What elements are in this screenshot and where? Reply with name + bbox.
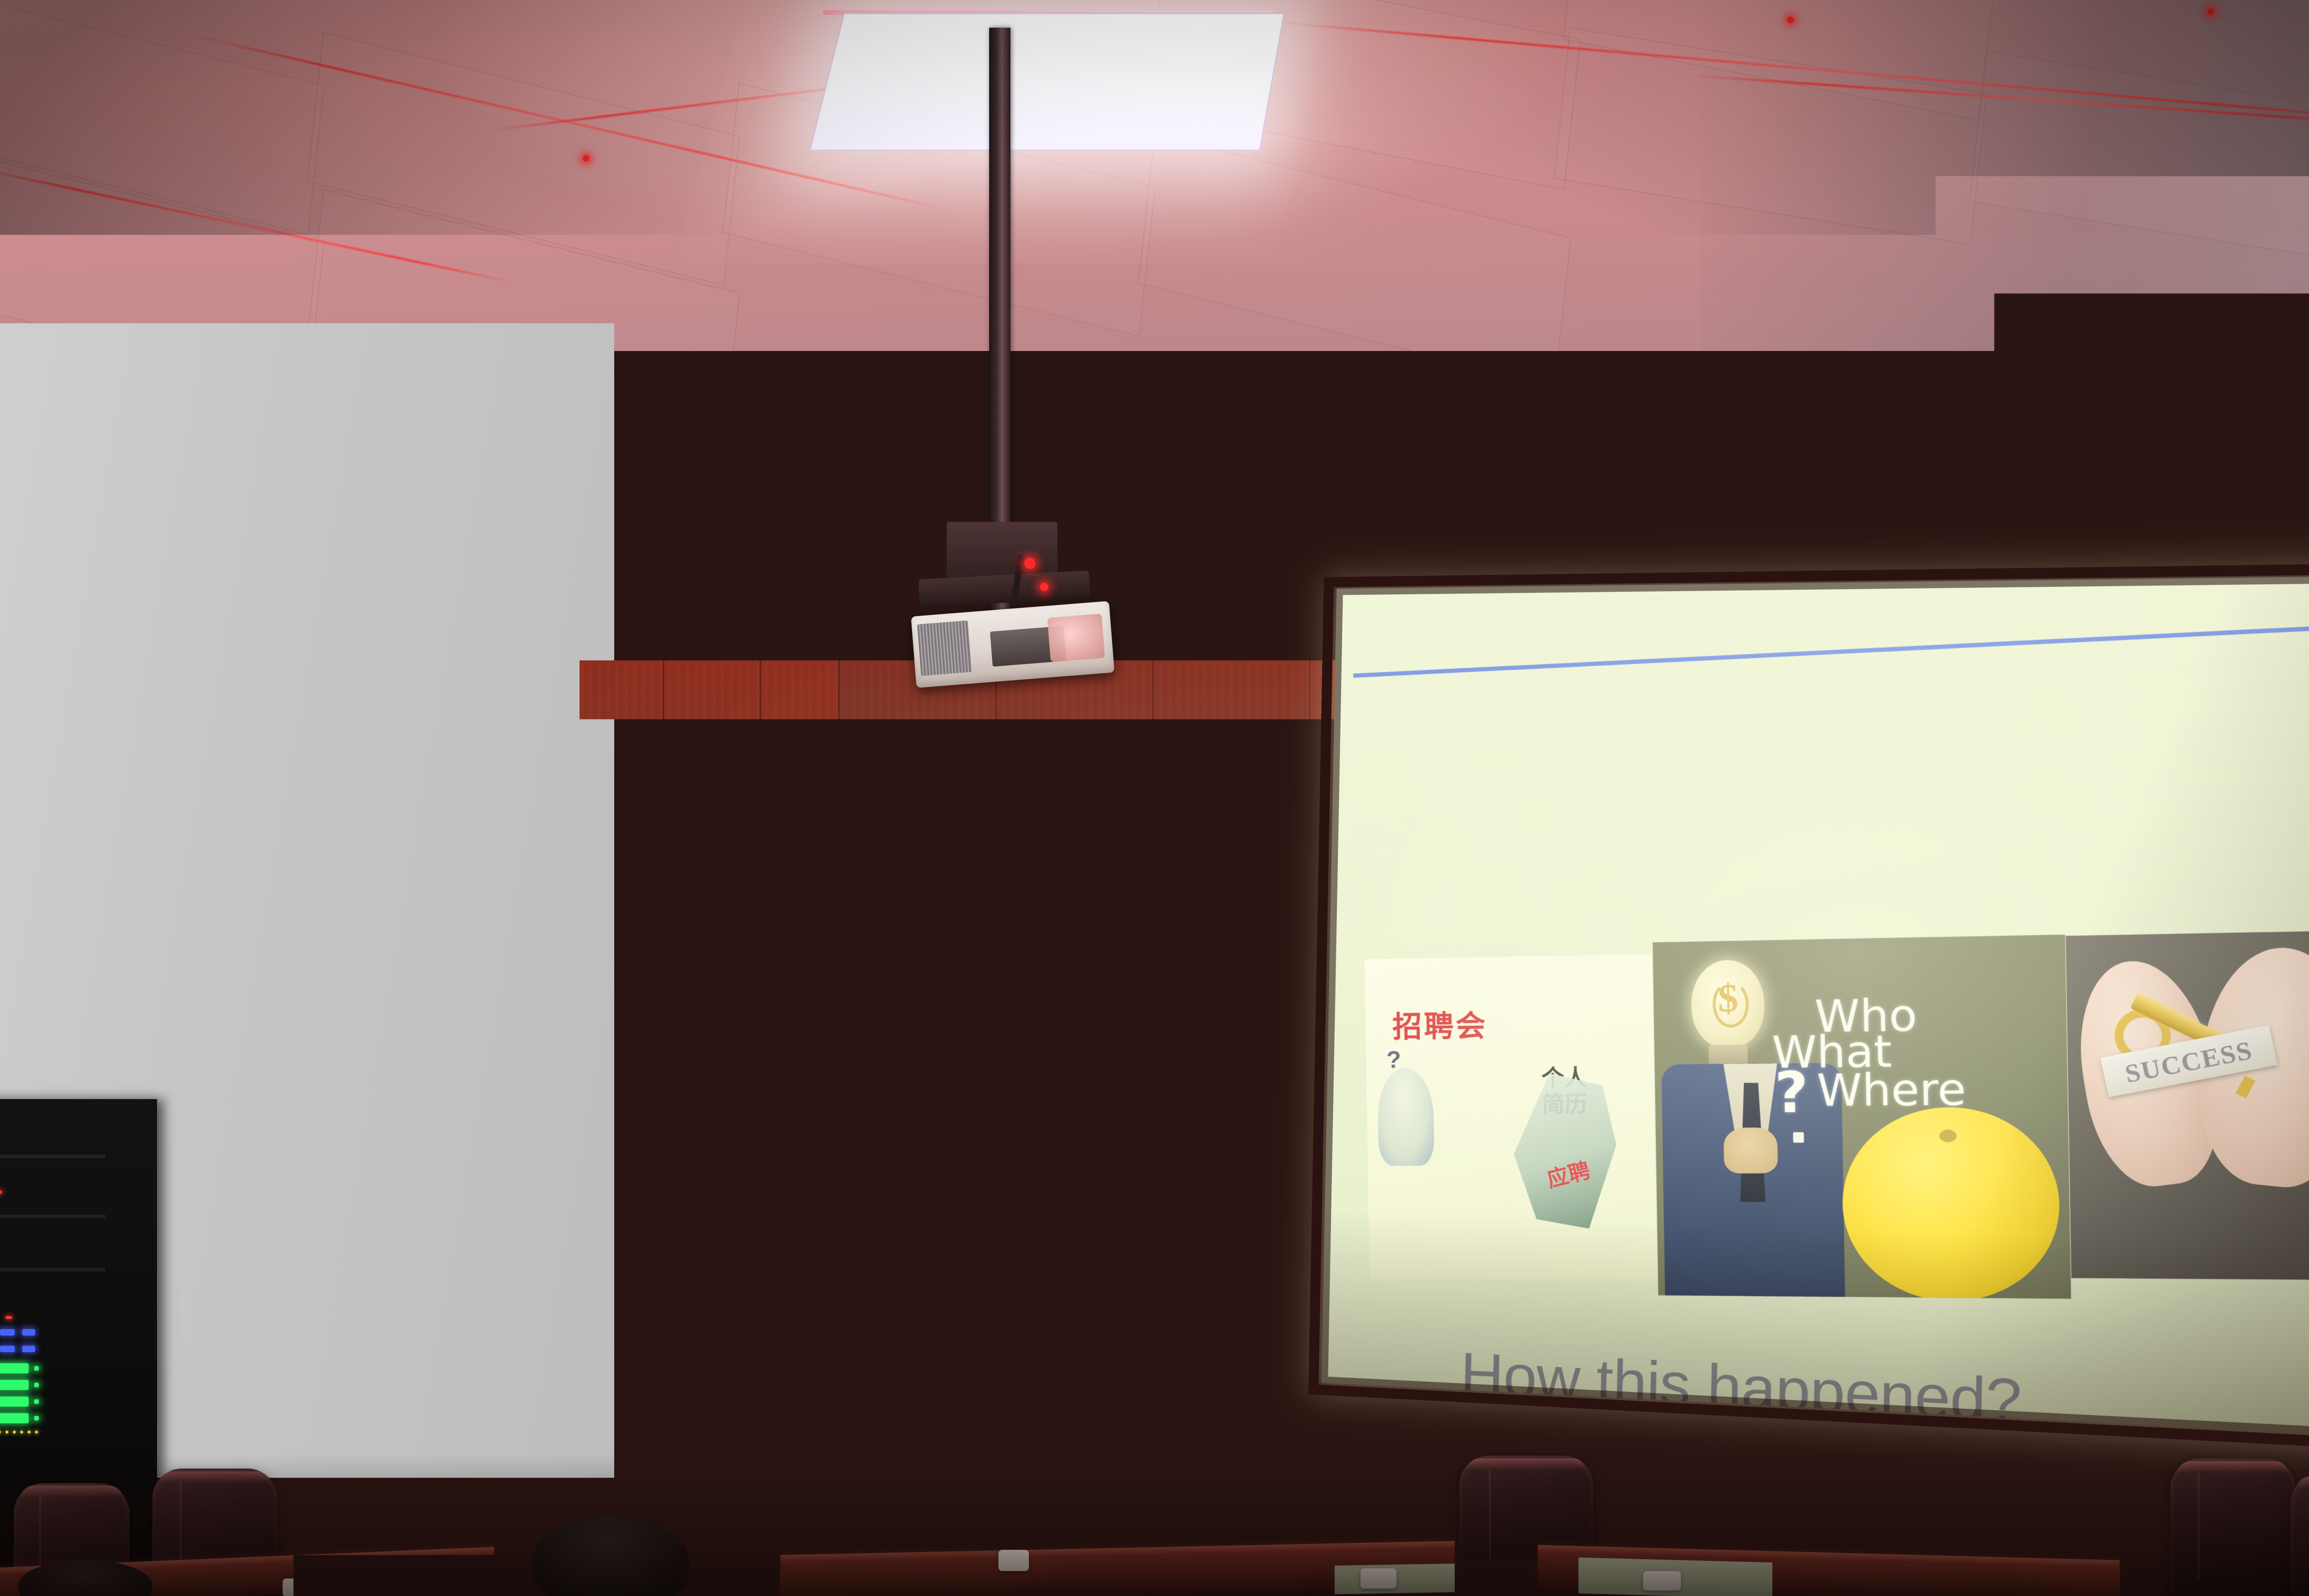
projector-status-led xyxy=(1024,558,1035,569)
projector-status-led xyxy=(1040,583,1048,591)
rack-indicator-green xyxy=(0,1363,29,1373)
rack-indicator-green xyxy=(34,1399,39,1404)
laser-dot xyxy=(2207,8,2214,15)
paper-cup xyxy=(1360,1568,1396,1589)
rack-indicator-yellow xyxy=(6,1431,8,1433)
lightbulb-icon: $ xyxy=(1691,959,1765,1048)
rack-indicator-yellow xyxy=(0,1431,1,1433)
slide-person-silhouette xyxy=(1377,1068,1434,1166)
rack-indicator-blue xyxy=(22,1329,35,1336)
podium-top-surface xyxy=(467,1202,758,1266)
laser-dot xyxy=(583,155,589,162)
folded-hands xyxy=(1723,1127,1778,1173)
rack-indicator-yellow xyxy=(35,1431,38,1433)
rack-indicator-green xyxy=(0,1413,29,1423)
projector-vent-grille xyxy=(917,620,972,676)
projector-lens xyxy=(1047,614,1105,662)
paper-cup xyxy=(998,1550,1029,1571)
rack-indicator-green xyxy=(0,1380,29,1390)
rack-indicator-blue xyxy=(0,1346,15,1352)
paper-cup xyxy=(1643,1571,1681,1590)
lemon-stem-spot xyxy=(1939,1130,1957,1142)
ceiling-light-panel xyxy=(809,12,1285,151)
projection-screen: 招聘会 ? 个人简历 应聘 $ Who What ? xyxy=(1322,574,2309,1441)
rack-indicator-yellow xyxy=(28,1431,30,1433)
dollar-sign-icon: $ xyxy=(1716,978,1740,1019)
slide-image-job-fair: 招聘会 ? 个人简历 应聘 xyxy=(1365,954,1657,1281)
conference-chair xyxy=(2170,1458,2295,1596)
eyeglasses-icon xyxy=(569,1085,637,1097)
slide-runner-figure xyxy=(1506,1073,1618,1229)
slide-image-success-key: SUCCESS xyxy=(2066,930,2309,1280)
microphone-led-indicator xyxy=(592,1132,608,1148)
rack-indicator-yellow xyxy=(13,1431,16,1433)
lemon-fruit xyxy=(1841,1106,2061,1299)
slide-image-who-what-where: $ Who What ? Where xyxy=(1653,935,2071,1299)
photo-scene: 校园模拟面试主题活动 招聘会 ? 个人简历 应聘 xyxy=(0,0,2309,1596)
rack-indicator-green xyxy=(34,1383,39,1387)
rack-indicator-yellow xyxy=(20,1431,23,1433)
slide-question-mark-icon: ? xyxy=(1774,1059,1809,1126)
slide-word-where: Where xyxy=(1817,1064,1966,1116)
slide-period-dot xyxy=(1793,1132,1804,1143)
rack-indicator-blue xyxy=(22,1346,35,1352)
rack-indicator-red xyxy=(0,1191,2,1194)
laser-dot xyxy=(1787,17,1794,23)
rack-indicator-green xyxy=(0,1396,29,1407)
podium-base xyxy=(489,1433,729,1489)
rack-indicator-blue xyxy=(0,1329,15,1336)
podium-body xyxy=(500,1258,717,1443)
rack-indicator-red xyxy=(6,1316,12,1319)
conference-chair xyxy=(2291,1474,2309,1596)
slide-label-job-fair: 招聘会 xyxy=(1392,1002,1487,1046)
rack-indicator-green xyxy=(34,1416,39,1421)
paper-cup xyxy=(283,1578,316,1596)
rack-indicator-green xyxy=(34,1366,39,1371)
